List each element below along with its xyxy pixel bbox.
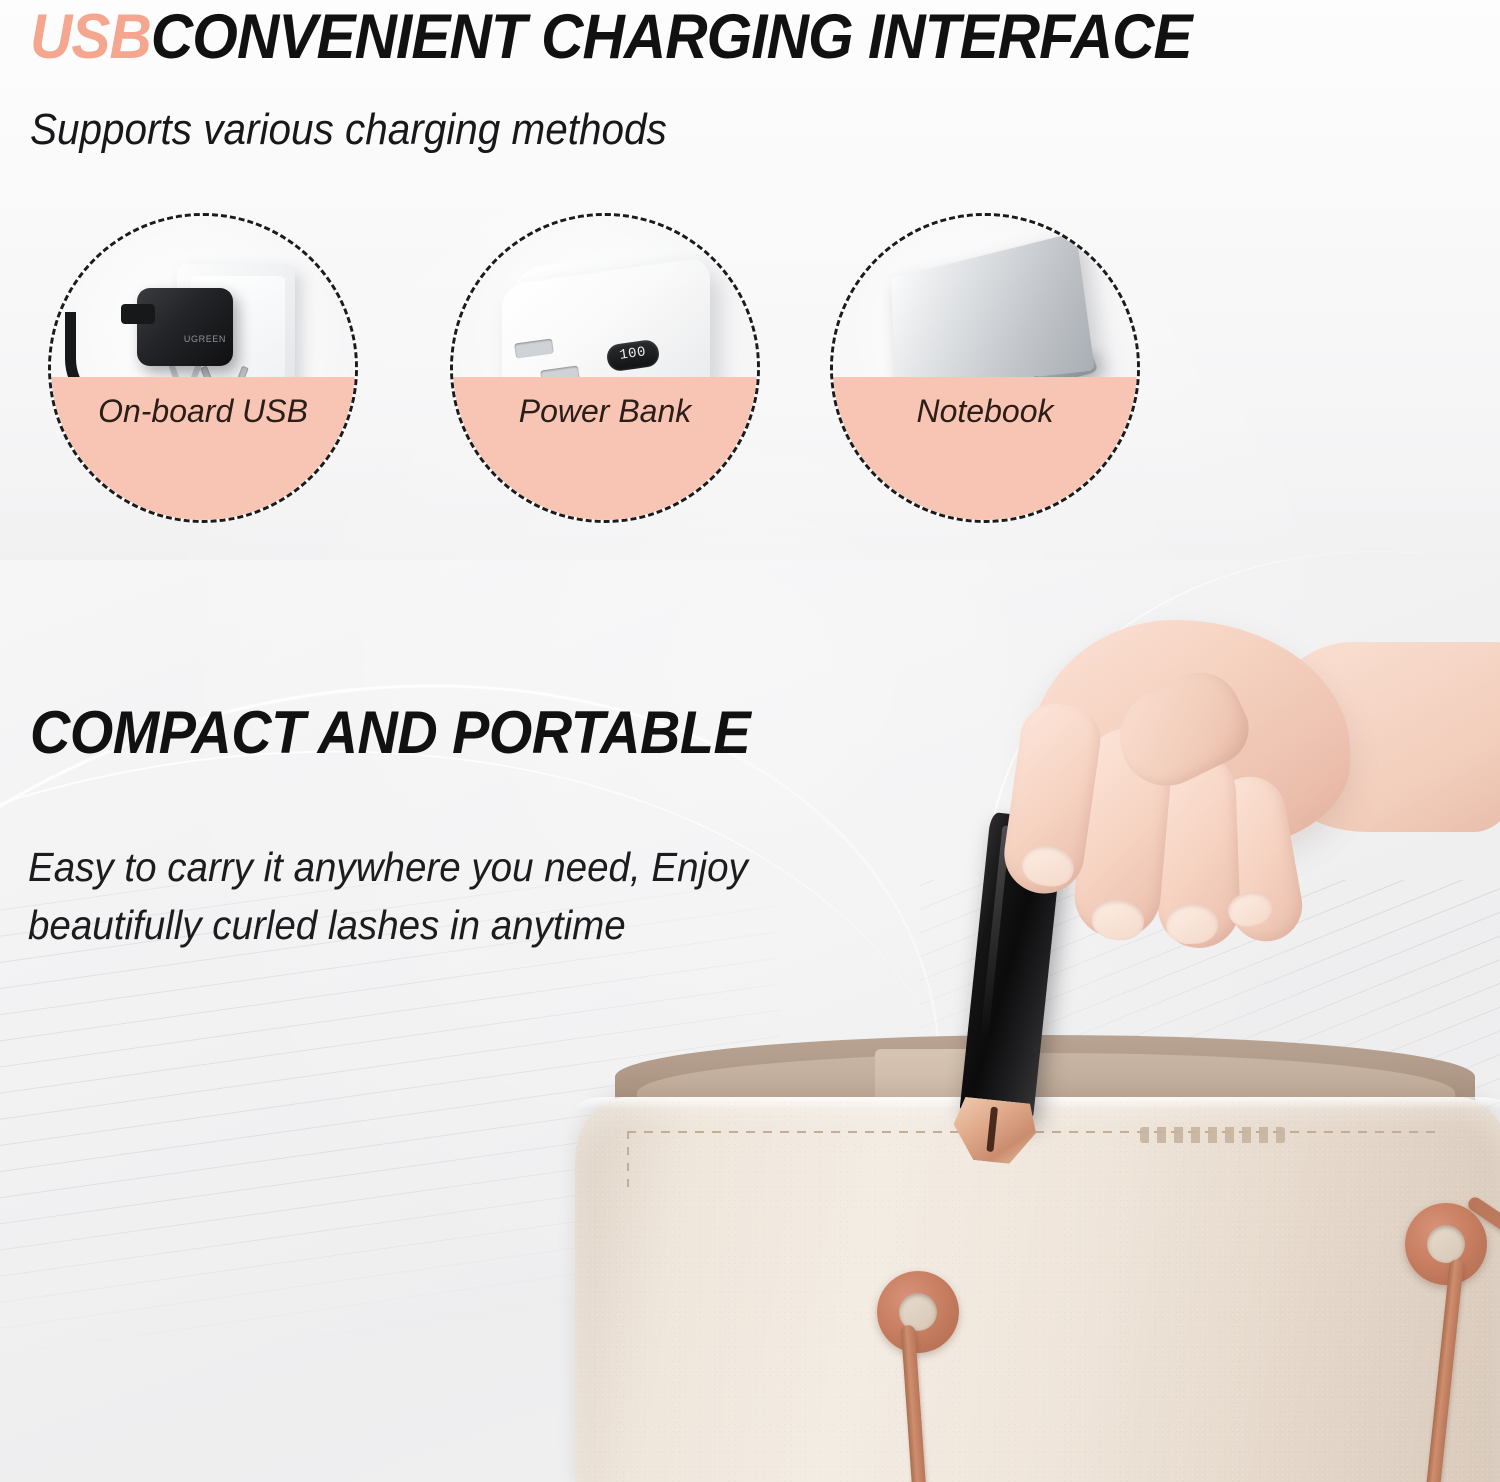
section-two-body: Easy to carry it anywhere you need, Enjo…	[28, 838, 855, 954]
headline-rest: CONVENIENT CHARGING INTERFACE	[151, 2, 1192, 72]
section-two-body-line-2: beautifully curled lashes in anytime	[28, 896, 855, 954]
handbag-drawstring-cord	[1424, 1259, 1464, 1482]
handbag-icon	[575, 1035, 1500, 1482]
badge-on-board-usb[interactable]: On-board USB	[48, 213, 358, 523]
hand-holding-icon	[960, 600, 1390, 1030]
section-one-headline: USBCONVENIENT CHARGING INTERFACE	[30, 2, 1192, 72]
handbag-grommet	[1405, 1203, 1487, 1285]
section-one-subheadline: Supports various charging methods	[30, 105, 667, 155]
background-swoosh-c	[886, 439, 1500, 1422]
badge-band: Notebook	[833, 377, 1137, 520]
curler-head-icon	[947, 1096, 1043, 1167]
background-line-pattern-right	[920, 880, 1500, 1300]
handbag-drawstring-cord	[901, 1325, 928, 1482]
badge-label-power-bank: Power Bank	[453, 393, 757, 430]
heated-eyelash-curler-icon	[960, 812, 1065, 1118]
badge-band: Power Bank	[453, 377, 757, 520]
section-two-body-line-1: Easy to carry it anywhere you need, Enjo…	[28, 838, 855, 896]
badge-notebook[interactable]: Notebook	[830, 213, 1140, 523]
handbag-grommet	[877, 1271, 959, 1353]
section-two-headline: COMPACT AND PORTABLE	[30, 700, 750, 766]
badge-label-on-board-usb: On-board USB	[51, 393, 355, 430]
product-feature-page: USBCONVENIENT CHARGING INTERFACE Support…	[0, 0, 1500, 1482]
headline-keyword: USB	[30, 2, 151, 72]
power-bank-display-value: 100	[606, 342, 660, 365]
badge-label-notebook: Notebook	[833, 393, 1137, 430]
badge-power-bank[interactable]: 100 Power Bank	[450, 213, 760, 523]
background-swoosh-a	[0, 545, 1052, 1482]
badge-band: On-board USB	[51, 377, 355, 520]
